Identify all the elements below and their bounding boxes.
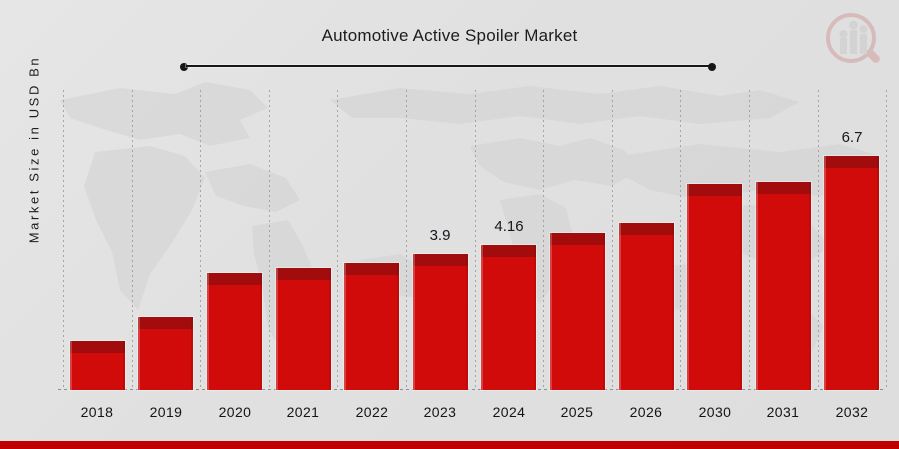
bar-cap: [824, 156, 879, 168]
bar-highlight-left: [70, 341, 72, 390]
value-label-2032: 6.7: [817, 129, 887, 146]
bar-2031[interactable]: [756, 182, 811, 390]
bar-cap: [481, 245, 536, 257]
bar-shadow-right: [191, 317, 193, 390]
bar-2024[interactable]: [481, 245, 536, 390]
gridline: [200, 90, 201, 390]
gridline: [612, 90, 613, 390]
bar-2025[interactable]: [550, 233, 605, 390]
gridline: [475, 90, 476, 390]
plot-area: 201820192020202120223.920234.16202420252…: [0, 0, 899, 449]
bar-cap: [138, 317, 193, 329]
bar-highlight-left: [687, 184, 689, 390]
bar-shadow-right: [877, 156, 879, 390]
bar-2022[interactable]: [344, 263, 399, 390]
bar-2021[interactable]: [276, 268, 331, 390]
x-tick-label-2021: 2021: [268, 404, 338, 420]
x-tick-label-2022: 2022: [337, 404, 407, 420]
bar-2019[interactable]: [138, 317, 193, 390]
bar-cap: [70, 341, 125, 353]
bar-2032[interactable]: [824, 156, 879, 390]
bar-shadow-right: [809, 182, 811, 390]
bar-highlight-left: [550, 233, 552, 390]
x-tick-label-2024: 2024: [474, 404, 544, 420]
bar-2018[interactable]: [70, 341, 125, 390]
bar-2030[interactable]: [687, 184, 742, 390]
bar-cap: [207, 273, 262, 285]
bar-cap: [687, 184, 742, 196]
bar-2023[interactable]: [413, 254, 468, 390]
gridline: [269, 90, 270, 390]
bar-shadow-right: [260, 273, 262, 390]
bar-shadow-right: [466, 254, 468, 390]
bar-highlight-left: [276, 268, 278, 390]
bar-shadow-right: [672, 223, 674, 390]
bar-shadow-right: [123, 341, 125, 390]
bar-shadow-right: [740, 184, 742, 390]
gridline: [749, 90, 750, 390]
bottom-accent-stripe: [0, 441, 899, 449]
bar-2026[interactable]: [619, 223, 674, 390]
bar-shadow-right: [397, 263, 399, 390]
x-tick-label-2020: 2020: [200, 404, 270, 420]
bar-highlight-left: [824, 156, 826, 390]
x-tick-label-2019: 2019: [131, 404, 201, 420]
bar-cap: [550, 233, 605, 245]
bar-shadow-right: [534, 245, 536, 390]
gridline: [337, 90, 338, 390]
gridline: [543, 90, 544, 390]
gridline: [680, 90, 681, 390]
bar-cap: [619, 223, 674, 235]
bar-cap: [756, 182, 811, 194]
bar-highlight-left: [756, 182, 758, 390]
bar-shadow-right: [603, 233, 605, 390]
bar-shadow-right: [329, 268, 331, 390]
gridline: [132, 90, 133, 390]
x-tick-label-2030: 2030: [680, 404, 750, 420]
bar-highlight-left: [344, 263, 346, 390]
chart-canvas: Automotive Active Spoiler Market Market …: [0, 0, 899, 449]
bar-2020[interactable]: [207, 273, 262, 390]
x-tick-label-2031: 2031: [748, 404, 818, 420]
x-tick-label-2032: 2032: [817, 404, 887, 420]
bar-highlight-left: [138, 317, 140, 390]
bar-highlight-left: [413, 254, 415, 390]
gridline: [63, 90, 64, 390]
x-tick-label-2018: 2018: [62, 404, 132, 420]
gridline: [886, 90, 887, 390]
x-tick-label-2025: 2025: [542, 404, 612, 420]
bar-highlight-left: [619, 223, 621, 390]
value-label-2024: 4.16: [474, 218, 544, 235]
x-tick-label-2026: 2026: [611, 404, 681, 420]
bar-cap: [413, 254, 468, 266]
bar-cap: [344, 263, 399, 275]
x-tick-label-2023: 2023: [405, 404, 475, 420]
bar-highlight-left: [207, 273, 209, 390]
value-label-2023: 3.9: [405, 227, 475, 244]
bar-highlight-left: [481, 245, 483, 390]
bar-cap: [276, 268, 331, 280]
